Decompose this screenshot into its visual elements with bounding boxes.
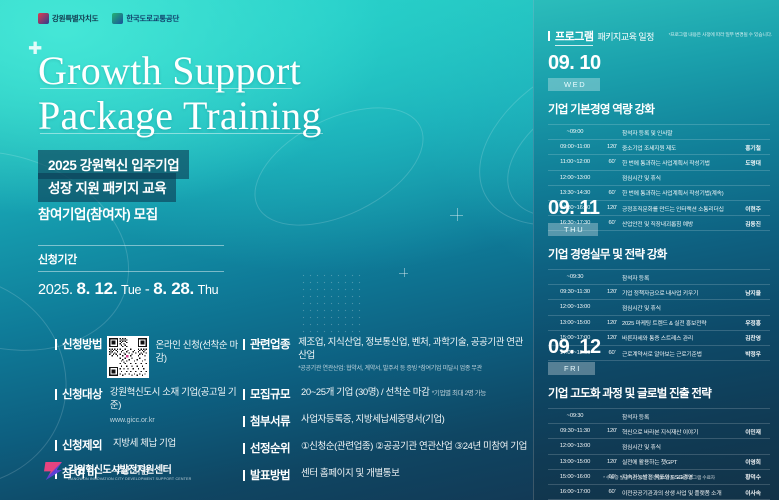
info-label: 발표방법 (243, 467, 301, 483)
cell-subject: 2025 마케팅 트렌드 & 실전 홍보전략 (622, 315, 736, 330)
table-row: ~09:30참석자 등록 (548, 270, 770, 285)
cell-time: 12:00~13:00 (548, 300, 602, 315)
cell-duration (602, 409, 622, 424)
table-row: 09:30~11:30120'기업 정책자금으로 내사업 키우기남지율 (548, 285, 770, 300)
program-panel: 프로그램 패키지교육 일정 *프로그램 내용은 사정에 따라 일부 변경될 수 … (533, 0, 779, 500)
info-column-right: 관련업종 제조업, 지식산업, 정보통신업, 벤처, 과학기술, 공공기관 연관… (243, 336, 528, 489)
apply-period-block: 신청기간 2025. 8. 12. Tue - 8. 28. Thu (38, 245, 224, 299)
apply-year: 2025. (38, 282, 73, 298)
cell-instructor (736, 439, 770, 454)
logo-partner-label: 한국도로교통공단 (126, 13, 179, 24)
page-title: Growth Support Package Training (38, 48, 322, 138)
cell-duration (602, 170, 622, 185)
info-label-text: 신청대상 (62, 386, 102, 402)
program-heading-bold: 프로그램 (555, 28, 593, 46)
day-date: 09. 10 (548, 52, 770, 74)
day-date: 09. 12 (548, 336, 770, 358)
day-date: 09. 11 (548, 197, 770, 219)
label-bar-icon (243, 416, 245, 427)
footer-logo-name-en: GANGWON INNOVATION CITY DEVELOPMENT SUPP… (68, 477, 191, 481)
cell-time: 12:00~13:00 (548, 170, 602, 185)
cell-duration: 120' (602, 315, 622, 330)
cell-duration: 120' (602, 454, 622, 469)
cell-time: 09:30~11:30 (548, 424, 602, 439)
cell-duration: 120' (602, 285, 622, 300)
center-logo-icon (44, 462, 62, 480)
cell-subject: 점심시간 및 휴식 (622, 439, 736, 454)
cell-duration: 60' (602, 155, 622, 170)
qr-code-icon[interactable] (107, 336, 149, 378)
cell-instructor (736, 409, 770, 424)
label-bar-icon (55, 389, 57, 400)
logo-gangwon-label: 강원특별자치도 (52, 13, 98, 24)
table-row: 13:00~15:00120'2025 마케팅 트렌드 & 실전 홍보전략우정홍 (548, 315, 770, 330)
cell-instructor (736, 300, 770, 315)
info-label-text: 관련업종 (250, 336, 290, 352)
cell-time: 09:30~11:30 (548, 285, 602, 300)
cell-time: ~09:30 (548, 270, 602, 285)
info-row-industries: 관련업종 제조업, 지식산업, 정보통신업, 벤처, 과학기술, 공공기관 연관… (243, 336, 528, 376)
cell-instructor: 홍기철 (736, 140, 770, 155)
program-heading-rest: 패키지교육 일정 (597, 30, 653, 43)
cell-duration: 60' (602, 484, 622, 499)
footer-logo: 강원혁신도시발전지원센터 GANGWON INNOVATION CITY DEV… (44, 461, 191, 481)
title-line-2: Package Training (38, 93, 322, 138)
gangwon-logo-icon (38, 13, 49, 24)
info-value-text: 20~25개 기업 (30명) / 선착순 마감 (301, 387, 429, 398)
info-value: 지방세 체납 기업 (113, 437, 176, 450)
label-bar-icon (243, 470, 245, 481)
day-of-week-badge: THU (548, 223, 598, 236)
info-label: 선정순위 (243, 440, 301, 456)
program-note: *프로그램 내용은 사정에 따라 일부 변경될 수 있습니다. (669, 31, 772, 38)
label-bar-icon (243, 443, 245, 454)
table-row: 12:00~13:00점심시간 및 휴식 (548, 300, 770, 315)
program-heading: 프로그램 패키지교육 일정 (548, 28, 654, 46)
apply-end-day: Thu (198, 283, 219, 297)
info-value: ①신청순(관련업종) ②공공기관 연관산업 ③24년 미참여 기업 (301, 440, 527, 453)
cell-instructor: 이민재 (736, 424, 770, 439)
cell-subject: 기업 정책자금으로 내사업 키우기 (622, 285, 736, 300)
cell-time: 11:00~12:00 (548, 155, 602, 170)
cell-duration (602, 300, 622, 315)
label-bar-icon (548, 31, 550, 41)
info-value-footnote: *공공기관 연관산업: 협약서, 계약서, 발주서 등 증빙 *참여기업 미달시… (298, 363, 528, 376)
info-label: 첨부서류 (243, 413, 301, 429)
apply-start-date: 8. 12. (77, 279, 118, 298)
info-value: 센터 홈페이지 및 개별통보 (301, 467, 399, 480)
table-row: 09:00~11:00120'중소기업 조세지원 제도홍기철 (548, 140, 770, 155)
day-of-week-badge: WED (548, 78, 600, 91)
info-label: 관련업종 (243, 336, 298, 352)
info-row-eligibility: 신청대상 강원혁신도시 소재 기업(공고일 기준) www.gicc.or.kr (55, 386, 240, 427)
title-underline-1 (40, 88, 292, 89)
info-row-exclusion: 신청제외 지방세 체납 기업 (55, 437, 240, 453)
table-row: 09:30~11:30120'혁신으로 바라본 지식재산 이야기이민재 (548, 424, 770, 439)
partner-logos: 강원특별자치도 한국도로교통공단 (38, 13, 179, 24)
subtitle-badge-3: 참여기업(참여자) 모집 (38, 203, 158, 223)
info-value-text: 강원혁신도시 소재 기업(공고일 기준) (110, 387, 236, 411)
subtitle-badge-2: 성장 지원 패키지 교육 (38, 173, 176, 202)
table-row: 13:00~15:00120'실전에 활용하는 챗GPT이영희 (548, 454, 770, 469)
cell-subject: 혁신으로 바라본 지식재산 이야기 (622, 424, 736, 439)
info-label: 신청방법 (55, 336, 107, 352)
cell-subject: 점심시간 및 휴식 (622, 170, 736, 185)
cell-instructor: 우정홍 (736, 315, 770, 330)
day-title: 기업 경영실무 및 전략 강화 (548, 246, 770, 262)
info-row-documents: 첨부서류 사업자등록증, 지방세납세증명서(기업) (243, 413, 528, 429)
left-panel: 강원특별자치도 한국도로교통공단 Growth Support Package … (0, 0, 533, 500)
info-value-footnote: *기업별 최대 2명 가능 (432, 390, 486, 397)
label-bar-icon (243, 339, 245, 350)
table-row: ~09:00참석자 등록 및 인사말 (548, 125, 770, 140)
info-label: 모집규모 (243, 386, 301, 402)
table-row: ~09:30참석자 등록 (548, 409, 770, 424)
cell-instructor: 남지율 (736, 285, 770, 300)
cell-instructor: 도명대 (736, 155, 770, 170)
cell-subject: 중소기업 조세지원 제도 (622, 140, 736, 155)
info-value: 강원혁신도시 소재 기업(공고일 기준) www.gicc.or.kr (110, 386, 240, 427)
info-value: 제조업, 지식산업, 정보통신업, 벤처, 과학기술, 공공기관 연관산업 *공… (298, 336, 528, 376)
cell-instructor (736, 270, 770, 285)
info-value: 사업자등록증, 지방세납세증명서(기업) (301, 413, 444, 426)
certificate-note: * 수료증 발급기준: 모든 과정별(3일간) 교육프로그램 수료자 (548, 474, 770, 481)
table-row: 16:00~17:0060'이전공공기관과의 상생 사업 및 플랫폼 소개이사속 (548, 484, 770, 499)
schedule-table: ~09:30참석자 등록 09:30~11:30120'혁신으로 바라본 지식재… (548, 408, 770, 500)
table-row: 11:00~12:0060'한 번에 통과하는 사업계획서 작성기법도명대 (548, 155, 770, 170)
cell-subject: 한 번에 통과하는 사업계획서 작성기법 (622, 155, 736, 170)
day-title: 기업 기본경영 역량 강화 (548, 101, 770, 117)
logo-gangwon: 강원특별자치도 (38, 13, 98, 24)
day-title: 기업 고도화 과정 및 글로벌 진출 전략 (548, 385, 770, 401)
info-label-text: 발표방법 (250, 467, 290, 483)
info-label-text: 신청방법 (62, 336, 102, 352)
apply-period-dates: 2025. 8. 12. Tue - 8. 28. Thu (38, 272, 224, 299)
cell-subject: 참석자 등록 (622, 270, 736, 285)
info-label: 신청대상 (55, 386, 110, 402)
cell-instructor: 이영희 (736, 454, 770, 469)
cell-duration (602, 439, 622, 454)
cell-subject: 점심시간 및 휴식 (622, 300, 736, 315)
apply-start-day: Tue (121, 283, 141, 297)
cell-duration: 120' (602, 140, 622, 155)
cell-time: 13:00~15:00 (548, 315, 602, 330)
logo-partner: 한국도로교통공단 (112, 13, 179, 24)
info-label-text: 모집규모 (250, 386, 290, 402)
day-of-week-badge: FRI (548, 362, 595, 375)
label-bar-icon (55, 440, 57, 451)
cell-time: ~09:00 (548, 125, 602, 140)
cell-time: 13:00~15:00 (548, 454, 602, 469)
table-row: 12:00~13:00점심시간 및 휴식 (548, 170, 770, 185)
title-line-1: Growth Support (38, 48, 301, 93)
apply-dash: - (145, 282, 150, 298)
website-url[interactable]: www.gicc.or.kr (110, 414, 240, 427)
cell-instructor (736, 170, 770, 185)
info-value-text: 제조업, 지식산업, 정보통신업, 벤처, 과학기술, 공공기관 연관산업 (298, 337, 523, 361)
cell-subject: 참석자 등록 (622, 409, 736, 424)
info-row-apply-method: 신청방법 온라인 신청(선착순 마감) (55, 336, 240, 378)
info-label-text: 첨부서류 (250, 413, 290, 429)
info-value: 20~25개 기업 (30명) / 선착순 마감 *기업별 최대 2명 가능 (301, 386, 486, 400)
cell-time: 16:00~17:00 (548, 484, 602, 499)
apply-period-label: 신청기간 (38, 246, 224, 271)
info-row-announcement: 발표방법 센터 홈페이지 및 개별통보 (243, 467, 528, 483)
title-underline-2 (40, 133, 323, 134)
footer-logo-text: 강원혁신도시발전지원센터 GANGWON INNOVATION CITY DEV… (68, 461, 191, 481)
info-value: 온라인 신청(선착순 마감) (155, 336, 240, 365)
info-label-text: 신청제외 (62, 437, 102, 453)
apply-end-date: 8. 28. (153, 279, 194, 298)
table-row: 12:00~13:00점심시간 및 휴식 (548, 439, 770, 454)
info-row-capacity: 모집규모 20~25개 기업 (30명) / 선착순 마감 *기업별 최대 2명… (243, 386, 528, 402)
cell-time: 09:00~11:00 (548, 140, 602, 155)
cell-duration (602, 270, 622, 285)
partner-logo-icon (112, 13, 123, 24)
cell-subject: 실전에 활용하는 챗GPT (622, 454, 736, 469)
cell-subject: 참석자 등록 및 인사말 (622, 125, 736, 140)
cell-instructor: 이사속 (736, 484, 770, 499)
cell-duration (602, 125, 622, 140)
info-label-text: 선정순위 (250, 440, 290, 456)
label-bar-icon (55, 339, 57, 350)
info-row-priority: 선정순위 ①신청순(관련업종) ②공공기관 연관산업 ③24년 미참여 기업 (243, 440, 528, 456)
cell-time: ~09:30 (548, 409, 602, 424)
label-bar-icon (243, 389, 245, 400)
cell-time: 12:00~13:00 (548, 439, 602, 454)
cell-instructor (736, 125, 770, 140)
poster-root: ✚ 강원특별자치도 한국도로교통공단 Growth Support Packag… (0, 0, 779, 500)
cell-duration: 120' (602, 424, 622, 439)
cell-subject: 이전공공기관과의 상생 사업 및 플랫폼 소개 (622, 484, 736, 499)
info-label: 신청제외 (55, 437, 113, 453)
footer-logo-name-ko: 강원혁신도시발전지원센터 (68, 461, 191, 476)
